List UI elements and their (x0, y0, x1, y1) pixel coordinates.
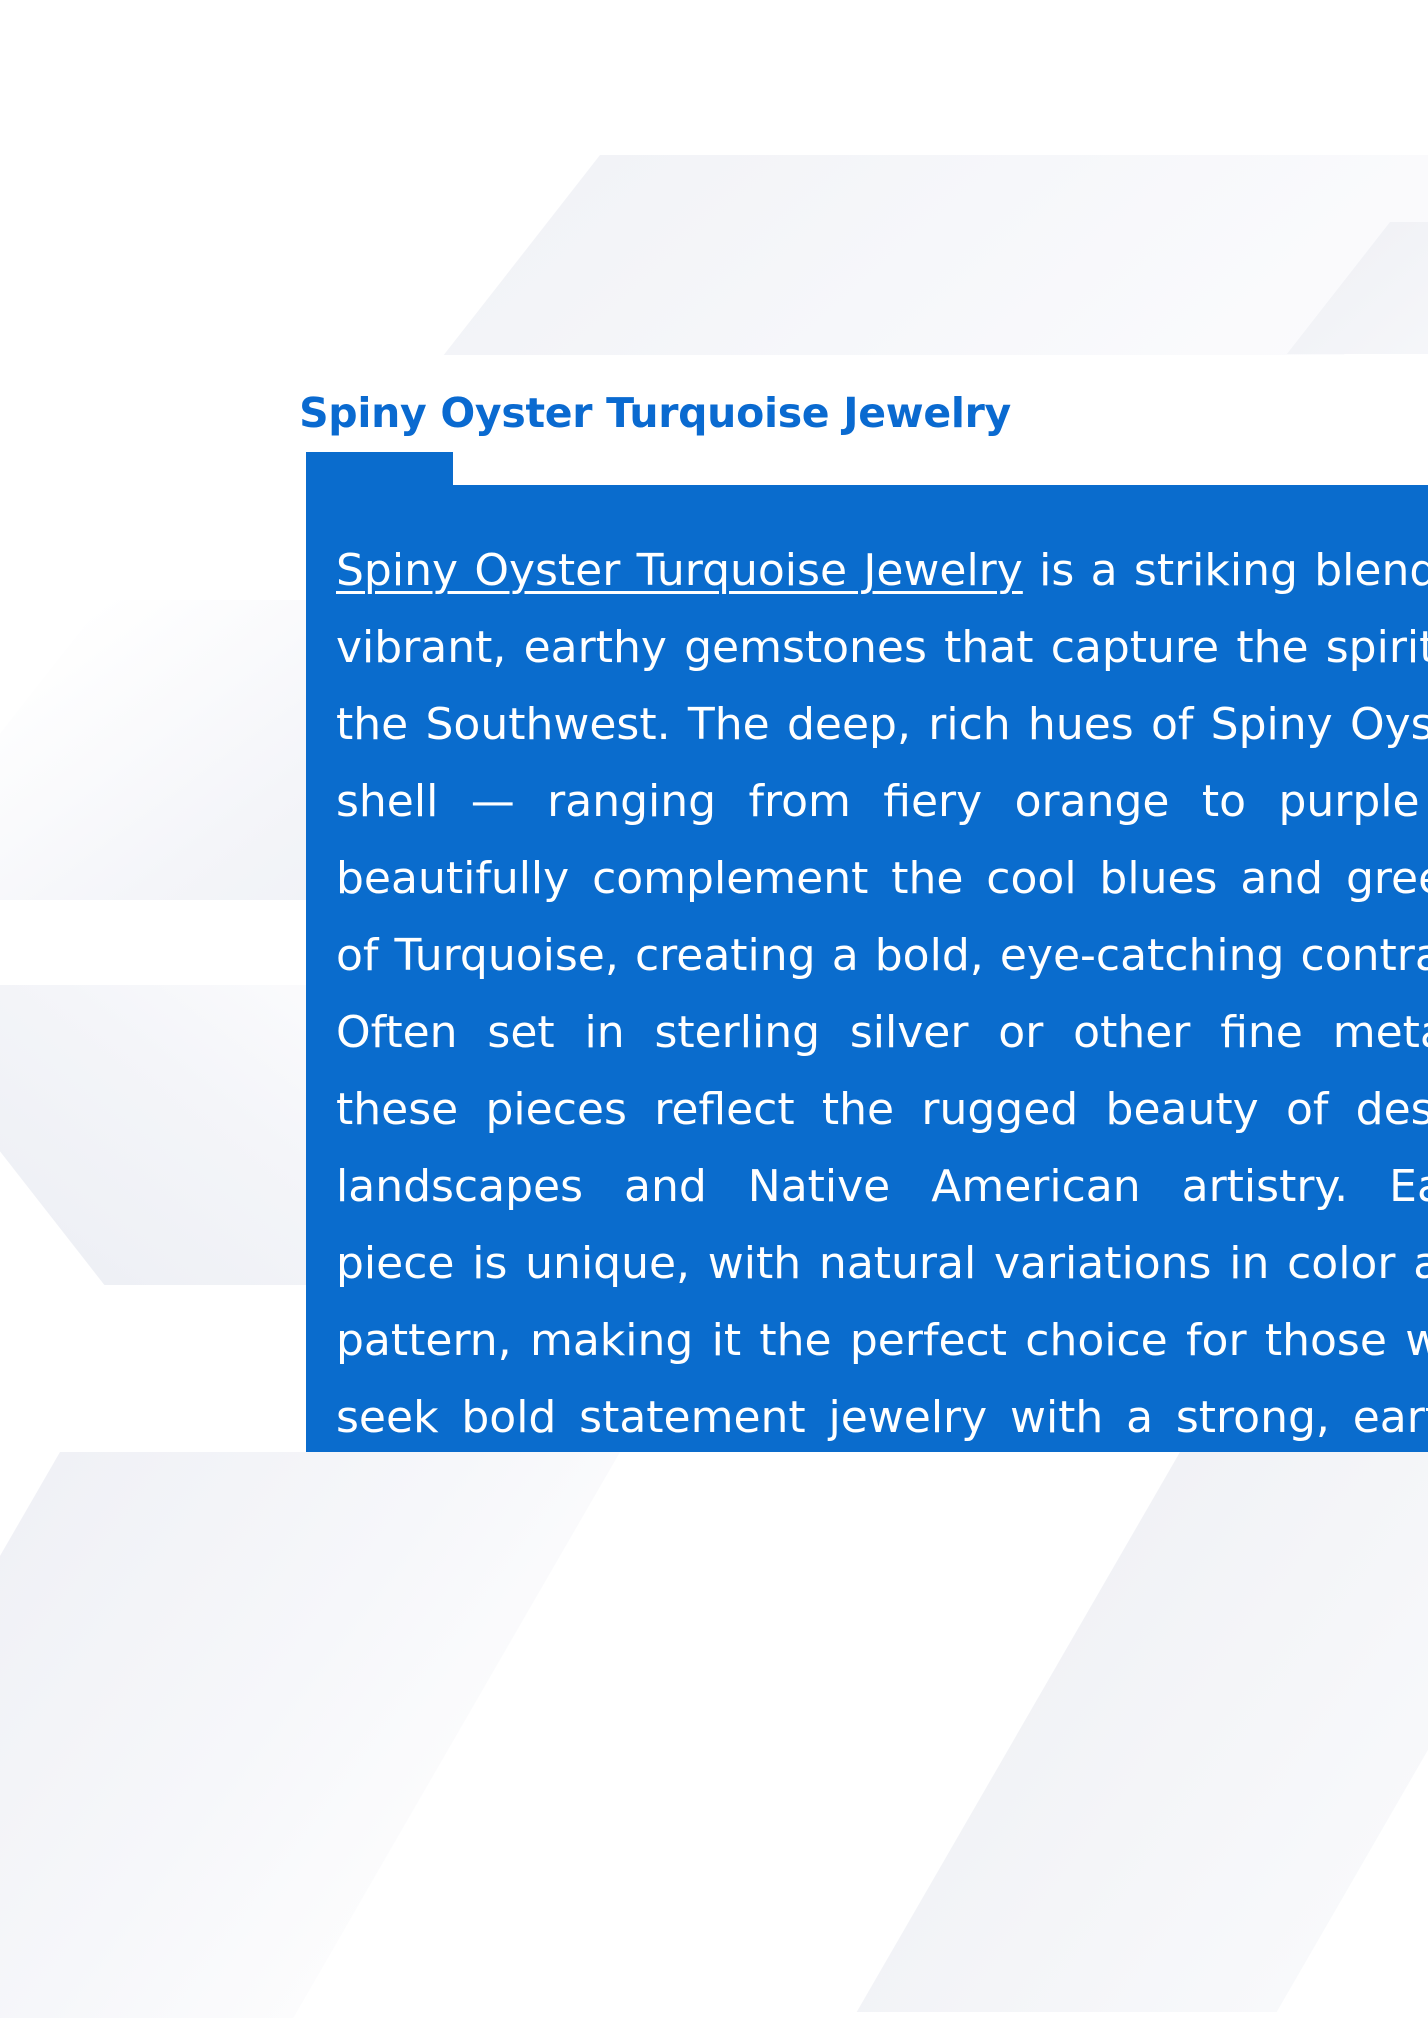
background-parallelogram-top (444, 155, 1428, 355)
background-parallelogram-top-right (1287, 222, 1428, 354)
spiny-oyster-turquoise-jewelry-link[interactable]: Spiny Oyster Turquoise Jewelry (336, 545, 1023, 596)
content-card: Spiny Oyster Turquoise Jewelry is a stri… (306, 452, 1428, 1452)
card-body: Spiny Oyster Turquoise Jewelry is a stri… (336, 532, 1428, 1610)
card-paragraph-text: is a striking blend of vibrant, earthy g… (336, 545, 1428, 1520)
background-band-bottom-left (0, 1452, 620, 2018)
background-band-bottom-right (857, 1452, 1428, 2012)
page-title: Spiny Oyster Turquoise Jewelry (0, 389, 1310, 437)
card-paragraph: Spiny Oyster Turquoise Jewelry is a stri… (336, 532, 1428, 1610)
